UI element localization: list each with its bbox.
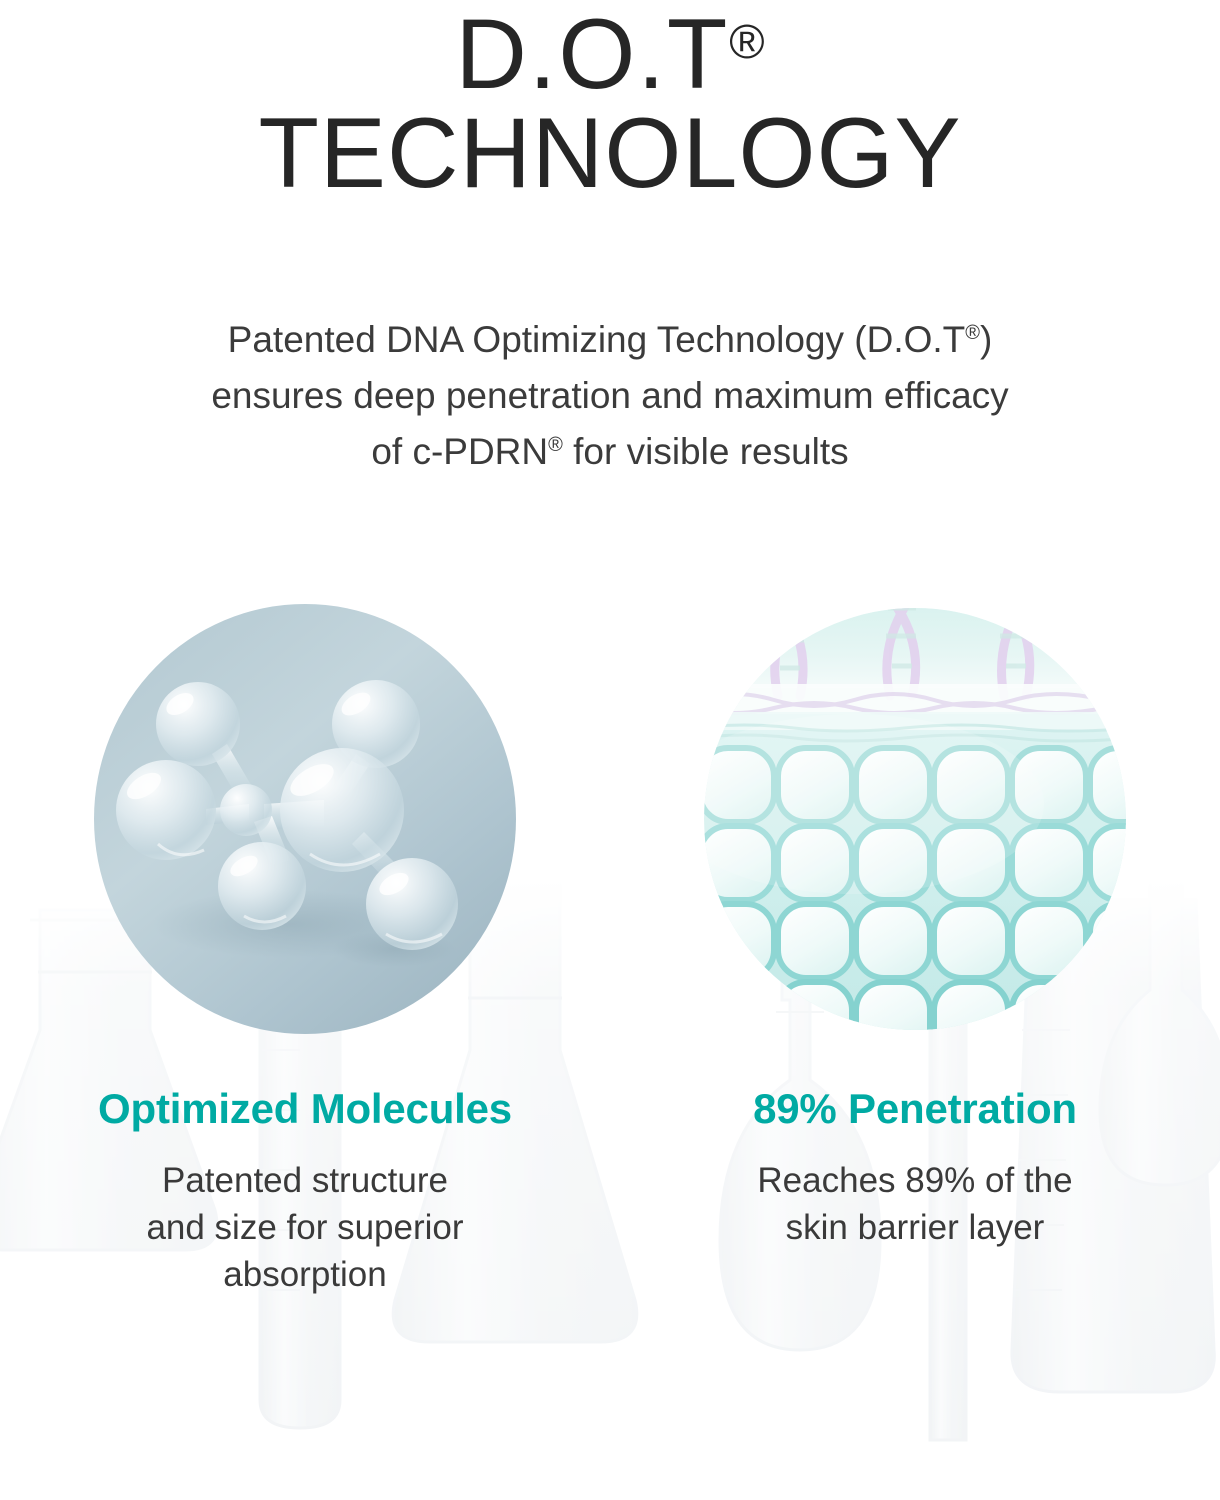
subtitle-line-2: ensures deep penetration and maximum eff… [0, 368, 1220, 424]
dot-technology-infographic: D.O.T® TECHNOLOGY Patented DNA Optimizin… [0, 0, 1220, 1500]
panel-title-penetration: 89% Penetration [753, 1088, 1077, 1130]
page-subtitle: Patented DNA Optimizing Technology (D.O.… [0, 312, 1220, 481]
subtitle-line-1-text: Patented DNA Optimizing Technology (D.O.… [228, 319, 966, 360]
registered-mark-icon: ® [729, 16, 764, 69]
page-title-line-1-text: D.O.T [455, 0, 729, 109]
page-title-line-1: D.O.T® [0, 0, 1220, 105]
feature-panel-optimized-molecules: Optimized Molecules Patented structure a… [0, 604, 610, 1404]
panel-body-line: skin barrier layer [757, 1205, 1072, 1252]
subtitle-line-3: of c-PDRN® for visible results [0, 424, 1220, 480]
subtitle-line-1-close: ) [980, 319, 992, 360]
registered-mark-icon: ® [965, 322, 980, 344]
page-title: D.O.T® TECHNOLOGY [0, 0, 1220, 206]
panel-title-optimized-molecules: Optimized Molecules [98, 1088, 512, 1130]
subtitle-line-3-text: of c-PDRN [371, 431, 548, 472]
skin-barrier-cells-image [704, 604, 1126, 1034]
panel-body-line: absorption [146, 1252, 463, 1299]
page-title-line-2: TECHNOLOGY [0, 101, 1220, 206]
panel-body-optimized-molecules: Patented structure and size for superior… [146, 1158, 463, 1299]
panel-body-line: and size for superior [146, 1205, 463, 1252]
molecule-render-image [94, 604, 516, 1034]
registered-mark-icon: ® [548, 434, 563, 456]
subtitle-line-3-tail: for visible results [563, 431, 849, 472]
panel-body-line: Patented structure [146, 1158, 463, 1205]
feature-panels: Optimized Molecules Patented structure a… [0, 604, 1220, 1404]
feature-panel-penetration: 89% Penetration Reaches 89% of the skin … [610, 604, 1220, 1404]
subtitle-line-1: Patented DNA Optimizing Technology (D.O.… [0, 312, 1220, 368]
panel-body-line: Reaches 89% of the [757, 1158, 1072, 1205]
panel-body-penetration: Reaches 89% of the skin barrier layer [757, 1158, 1072, 1252]
